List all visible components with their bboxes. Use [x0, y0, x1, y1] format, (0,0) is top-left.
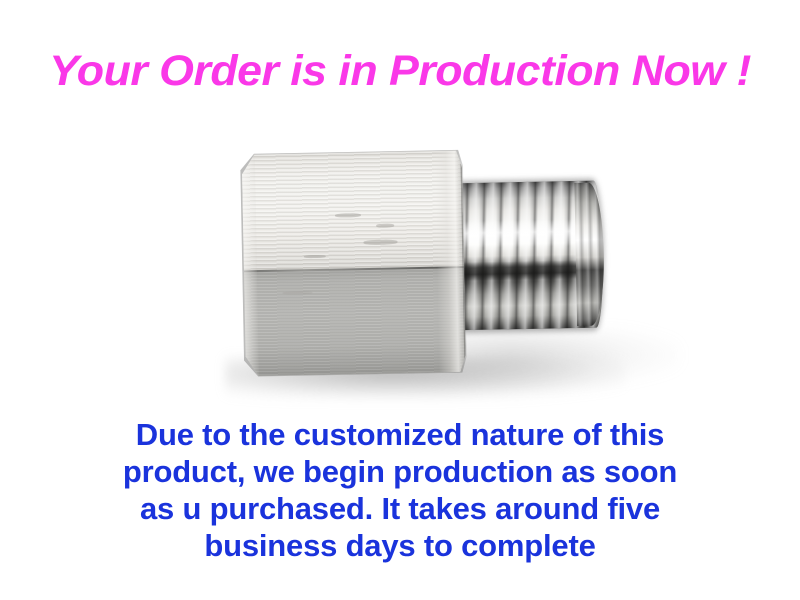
hex-top-face	[234, 147, 464, 272]
surface-mark	[335, 213, 361, 217]
production-notice-text: Due to the customized nature of this pro…	[60, 416, 740, 564]
hex-bottom-face	[236, 268, 466, 380]
promotional-banner: Your Order is in Production Now !	[0, 0, 800, 600]
machining-striations-top	[234, 147, 464, 272]
hex-chamfer-left	[234, 151, 259, 379]
notice-line-1: Due to the customized nature of this	[60, 416, 740, 453]
notice-line-2: product, we begin production as soon	[60, 453, 740, 490]
page-title: Your Order is in Production Now !	[0, 50, 800, 93]
notice-line-3: as u purchased. It takes around five	[60, 490, 740, 527]
machining-striations-bottom	[236, 268, 466, 380]
hex-pipe-adapter-fitting	[0, 111, 800, 421]
hex-nut-body	[234, 147, 466, 379]
product-photo	[0, 118, 800, 413]
hex-chamfer-right	[434, 147, 466, 375]
notice-line-4: business days to complete	[60, 527, 740, 564]
